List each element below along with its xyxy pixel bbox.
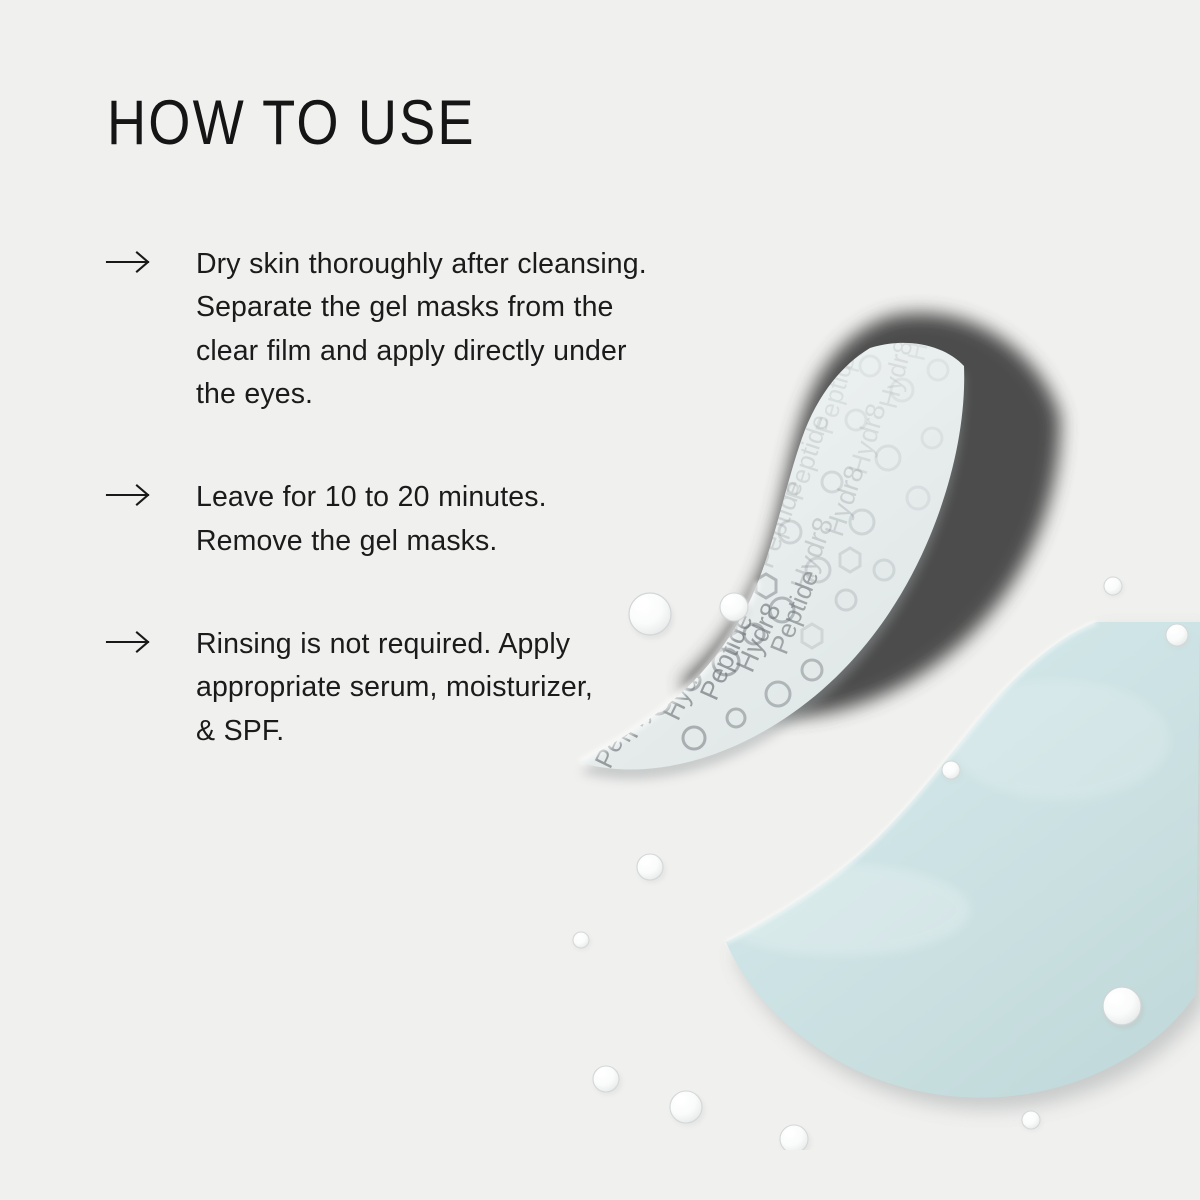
page-title: HOW TO USE: [107, 92, 587, 155]
water-droplet: [1022, 1111, 1042, 1131]
arrow-right-icon: [105, 249, 153, 275]
water-droplet: [1104, 577, 1124, 597]
step-text: Rinsing is not required. Apply appropria…: [196, 623, 596, 753]
arrow-right-icon: [105, 629, 153, 655]
step-item: Rinsing is not required. Apply appropria…: [105, 623, 665, 753]
step-text: Dry skin thoroughly after cleansing. Sep…: [196, 243, 648, 416]
step-item: Leave for 10 to 20 minutes. Remove the g…: [105, 476, 665, 563]
how-to-use-infographic: HOW TO USE Dry skin thoroughly after cle…: [0, 0, 1200, 1200]
steps-list: Dry skin thoroughly after cleansing. Sep…: [105, 243, 665, 753]
water-droplet: [720, 593, 751, 624]
arrow-right-icon: [105, 482, 153, 508]
water-droplet: [573, 932, 591, 950]
water-droplet: [780, 1125, 811, 1150]
step-item: Dry skin thoroughly after cleansing. Sep…: [105, 243, 665, 416]
water-droplet: [637, 854, 666, 883]
instructions-panel: HOW TO USE Dry skin thoroughly after cle…: [105, 92, 665, 753]
water-droplet: [593, 1066, 622, 1095]
water-droplet: [670, 1091, 705, 1126]
step-text: Leave for 10 to 20 minutes. Remove the g…: [196, 476, 648, 563]
